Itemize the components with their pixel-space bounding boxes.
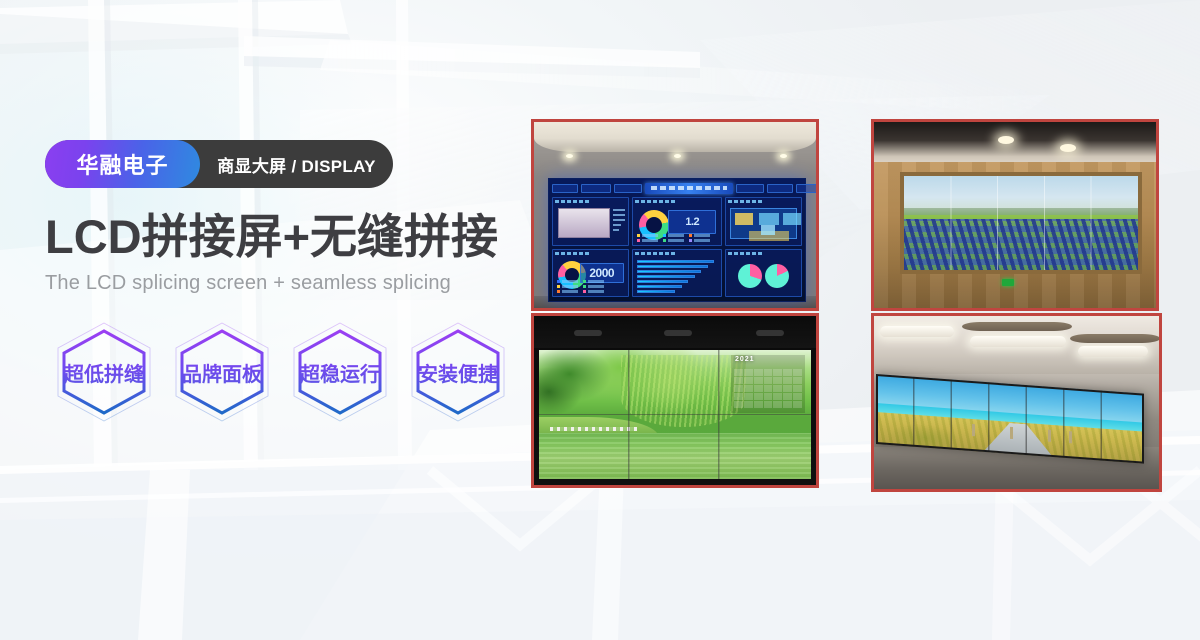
subheadline: The LCD splicing screen + seamless splic… <box>45 272 565 295</box>
brand-name: 华融电子 <box>45 140 200 188</box>
feature-badge-1: 超低拼缝 <box>45 317 163 427</box>
feature-badge-label: 超低拼缝 <box>45 317 163 427</box>
banner-content: 华融电子 商显大屏 / DISPLAY LCD拼接屏+无缝拼接 The LCD … <box>45 140 565 427</box>
dashboard-video-wall: 1.2 <box>548 178 806 302</box>
feature-badge-label: 品牌面板 <box>163 317 281 427</box>
headline: LCD拼接屏+无缝拼接 <box>45 212 565 261</box>
feature-badge-list: 超低拼缝 品牌面板 <box>45 317 565 427</box>
brand-category: 商显大屏 / DISPLAY <box>200 140 393 188</box>
willow-pond-screen: 2021 <box>539 350 811 479</box>
promo-banner: 华融电子 商显大屏 / DISPLAY LCD拼接屏+无缝拼接 The LCD … <box>0 0 1200 640</box>
photo-solar-farm-video-wall <box>871 119 1159 311</box>
feature-badge-label: 超稳运行 <box>281 317 399 427</box>
photo-control-room-dashboard: 1.2 <box>531 119 819 311</box>
feature-badge-2: 品牌面板 <box>163 317 281 427</box>
solar-farm-screen <box>904 176 1138 270</box>
dashboard-big-number-1: 1.2 <box>668 210 716 234</box>
feature-badge-3: 超稳运行 <box>281 317 399 427</box>
photo-willow-pond-video-wall: 2021 <box>531 313 819 488</box>
feature-badge-4: 安装便捷 <box>399 317 517 427</box>
exit-sign-icon <box>1002 279 1014 286</box>
feature-badge-label: 安装便捷 <box>399 317 517 427</box>
photo-beach-boardwalk-video-wall <box>871 313 1162 492</box>
brand-pill: 华融电子 商显大屏 / DISPLAY <box>45 140 393 188</box>
